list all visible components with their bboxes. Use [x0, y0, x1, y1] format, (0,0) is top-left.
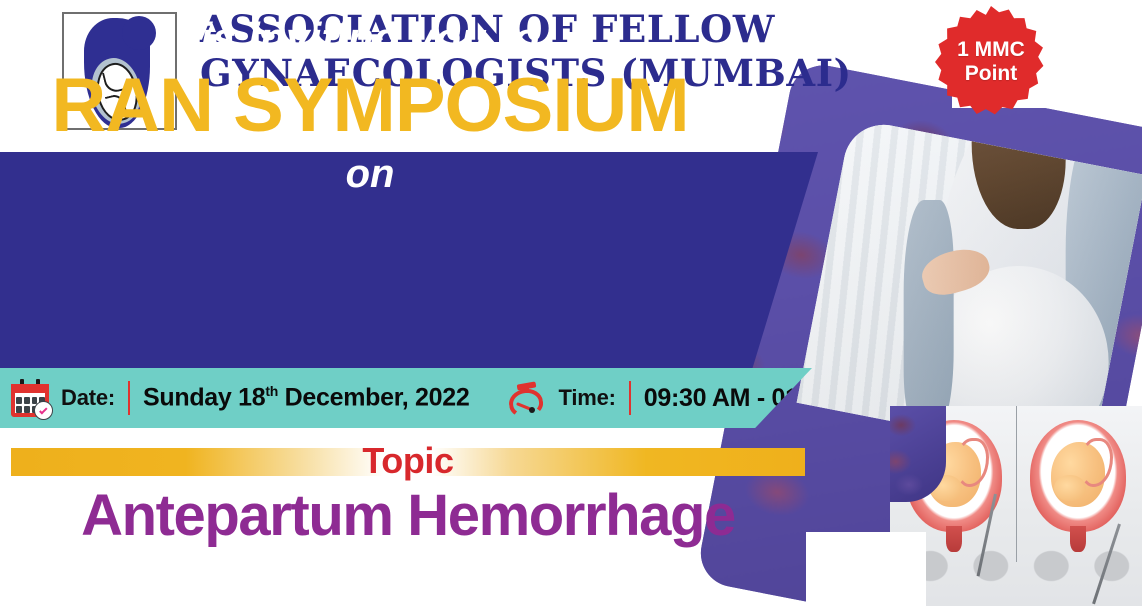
cardigan-left [1065, 118, 1142, 460]
calendar-check-badge [34, 401, 53, 420]
diagram-divider [1016, 406, 1017, 562]
topic-title: Antepartum Hemorrhage [0, 482, 816, 549]
photo-content [797, 118, 1142, 460]
uterus-illustration-2 [1030, 420, 1126, 532]
badge-line2: Point [957, 62, 1025, 86]
umbilical-cord-2 [1080, 438, 1113, 487]
calendar-day-cell [24, 397, 30, 404]
instrument-2 [1092, 524, 1121, 605]
woman-neck [993, 163, 1036, 211]
uterus-illustration-1 [906, 420, 1002, 532]
fetus-1 [927, 442, 981, 507]
amniotic-cavity-2 [1043, 433, 1112, 514]
fetus-2 [1051, 442, 1105, 507]
instrument-1 [977, 494, 997, 577]
event-details-bar: Date: Sunday 18th December, 2022 Time: 0… [0, 368, 812, 428]
woman-hair [972, 118, 1066, 230]
topic-label: Topic [0, 440, 816, 482]
cervix-1 [946, 526, 961, 552]
pelvis-bones [890, 498, 1142, 598]
calendar-day-cell [24, 406, 30, 413]
date-value: Sunday 18th December, 2022 [143, 383, 469, 412]
cardigan-right [903, 200, 953, 430]
invitation-text: is inviting you to [0, 14, 740, 62]
event-poster: ASSOCIATION OF FELLOW GYNAECOLOGISTS (MU… [0, 0, 1142, 606]
date-group: Date: Sunday 18th December, 2022 [8, 378, 469, 418]
uterine-wall-2 [1030, 420, 1126, 532]
photo-shading [797, 118, 1142, 460]
event-title: RAN SYMPOSIUM [0, 68, 740, 144]
time-divider [629, 381, 631, 415]
date-ordinal: th [265, 383, 278, 399]
date-divider [128, 381, 130, 415]
umbilical-cord-1 [956, 438, 989, 487]
pregnant-woman-photo [797, 118, 1142, 460]
hand-lower [924, 408, 997, 460]
blood-cells-corner [890, 406, 946, 502]
curtain-background [797, 118, 1142, 460]
stopwatch-ring [508, 387, 546, 419]
stopwatch-icon [505, 378, 549, 418]
on-connector: on [0, 152, 740, 197]
badge-line1: 1 MMC [957, 38, 1025, 62]
badge-text: 1 MMC Point [957, 38, 1025, 85]
date-value-prefix: Sunday 18 [143, 384, 265, 412]
calendar-day-cell [16, 397, 22, 404]
time-value: 09:30 AM - 01:30 PM [644, 384, 878, 413]
date-label: Date: [61, 385, 115, 411]
date-value-suffix: December, 2022 [278, 384, 469, 412]
white-wedge-bottom [806, 532, 926, 606]
time-group: Time: 09:30 AM - 01:30 PM [505, 378, 877, 418]
woman-body [936, 118, 1142, 460]
amniotic-cavity-1 [919, 433, 988, 514]
calendar-day-cell [16, 406, 22, 413]
time-label: Time: [558, 385, 615, 411]
hand-upper [917, 243, 994, 301]
uterine-wall-1 [906, 420, 1002, 532]
mmc-point-badge: 1 MMC Point [935, 6, 1047, 118]
calendar-icon [8, 378, 52, 418]
placenta-diagram [890, 406, 1142, 606]
calendar-header-strip [11, 384, 49, 393]
check-mark-icon [39, 406, 47, 414]
cervix-2 [1070, 526, 1085, 552]
pregnant-belly [928, 267, 1108, 460]
